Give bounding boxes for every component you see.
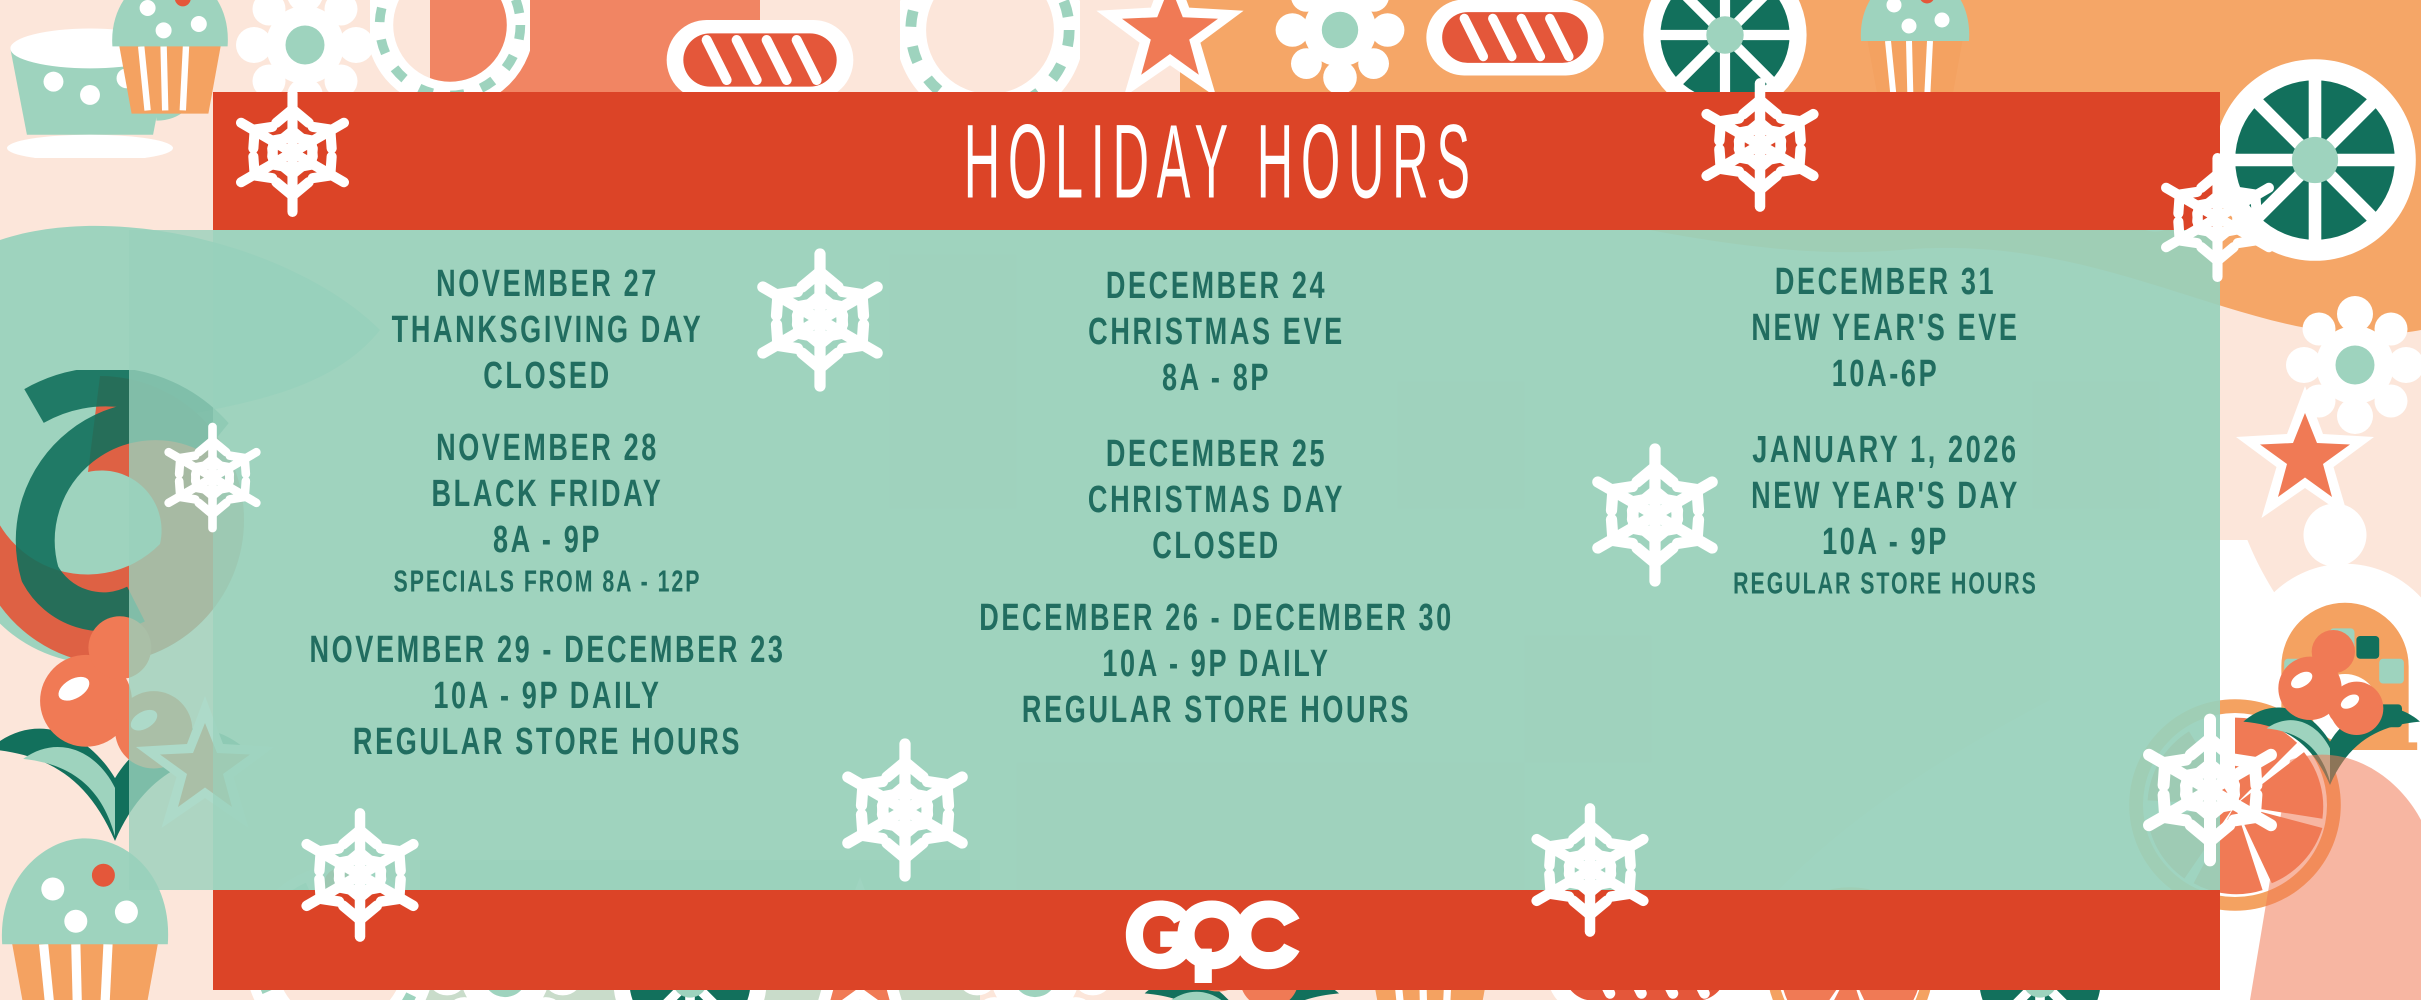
- christmas-eve-line-3: 8A - 8P: [942, 350, 1491, 403]
- nov29-dec23-line-3: REGULAR STORE HOURS: [273, 714, 822, 767]
- page-title: HOLIDAY HOURS: [956, 109, 1478, 214]
- panel-left-overhang: [129, 230, 213, 890]
- hours-columns: NOVEMBER 27THANKSGIVING DAYCLOSEDNOVEMBE…: [213, 230, 2220, 890]
- new-years-day-line-4: REGULAR STORE HOURS: [1611, 561, 2160, 605]
- new-years-day-line-3: 10A - 9P: [1611, 514, 2160, 567]
- nov29-dec23: NOVEMBER 29 - DECEMBER 2310A - 9P DAILYR…: [213, 626, 882, 764]
- dec26-dec30-line-3: REGULAR STORE HOURS: [942, 682, 1491, 735]
- black-friday-line-4: SPECIALS FROM 8A - 12P: [273, 559, 822, 603]
- gpo-logo[interactable]: [1122, 897, 1312, 983]
- christmas-day: DECEMBER 25CHRISTMAS DAYCLOSED: [882, 430, 1551, 568]
- holiday-hours-card: HOLIDAY HOURS NOVEMBER 27THANKSGIVING DA…: [213, 92, 2220, 900]
- new-years-day: JANUARY 1, 2026NEW YEAR'S DAY10A - 9PREG…: [1551, 426, 2220, 602]
- footer-bar: [213, 890, 2220, 990]
- black-friday-line-3: 8A - 9P: [273, 512, 822, 565]
- title-bar: HOLIDAY HOURS: [213, 92, 2220, 230]
- thanksgiving-day: NOVEMBER 27THANKSGIVING DAYCLOSED: [213, 260, 882, 398]
- christmas-eve: DECEMBER 24CHRISTMAS EVE8A - 8P: [882, 262, 1551, 400]
- column-1: NOVEMBER 27THANKSGIVING DAYCLOSEDNOVEMBE…: [213, 230, 882, 890]
- column-3: DECEMBER 31NEW YEAR'S EVE10A-6PJANUARY 1…: [1551, 230, 2220, 890]
- christmas-day-line-3: CLOSED: [942, 518, 1491, 571]
- column-2: DECEMBER 24CHRISTMAS EVE8A - 8PDECEMBER …: [882, 230, 1551, 890]
- black-friday: NOVEMBER 28BLACK FRIDAY8A - 9PSPECIALS F…: [213, 424, 882, 600]
- dec26-dec30: DECEMBER 26 - DECEMBER 3010A - 9P DAILYR…: [882, 594, 1551, 732]
- new-years-eve-line-3: 10A-6P: [1611, 346, 2160, 399]
- thanksgiving-day-line-3: CLOSED: [273, 348, 822, 401]
- new-years-eve: DECEMBER 31NEW YEAR'S EVE10A-6P: [1551, 258, 2220, 396]
